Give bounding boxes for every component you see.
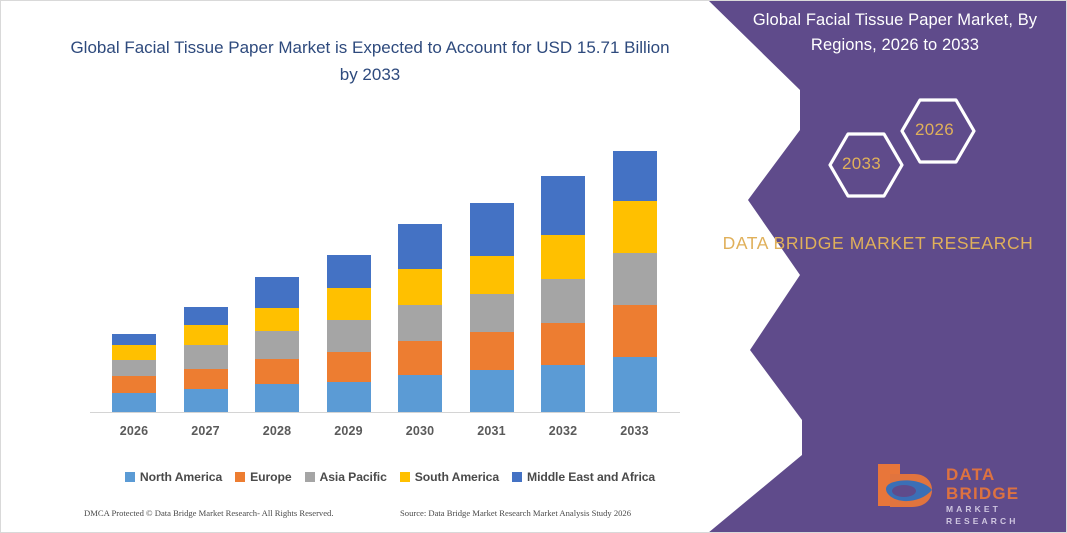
hexagon-label-end-year: 2026 xyxy=(915,120,954,140)
bar-segment xyxy=(541,323,585,365)
bar-segment xyxy=(398,269,442,305)
stacked-bar xyxy=(184,307,228,412)
bar-segment xyxy=(613,201,657,253)
bridge-b-icon xyxy=(870,460,940,512)
bar-segment xyxy=(184,307,228,325)
x-axis-label: 2030 xyxy=(380,424,460,438)
bar-segment xyxy=(255,277,299,308)
bar-segment xyxy=(470,294,514,332)
bar-segment xyxy=(541,365,585,412)
bar-segment xyxy=(112,393,156,412)
legend-swatch-icon xyxy=(305,472,315,482)
x-axis-line xyxy=(90,412,680,413)
bar-segment xyxy=(613,151,657,201)
brand-name: DATA BRIDGE MARKET RESEARCH xyxy=(718,228,1038,258)
bar-segment xyxy=(184,325,228,345)
company-logo: DATA BRIDGE MARKET RESEARCH xyxy=(870,460,1060,515)
legend-swatch-icon xyxy=(400,472,410,482)
copyright-notice: DMCA Protected © Data Bridge Market Rese… xyxy=(84,508,334,518)
bar-segment xyxy=(327,320,371,352)
bar-segment xyxy=(255,308,299,331)
bar-segment xyxy=(327,382,371,412)
logo-subtitle: MARKET RESEARCH xyxy=(946,503,1060,527)
x-axis-label: 2031 xyxy=(452,424,532,438)
bar-segment xyxy=(112,334,156,345)
infographic-canvas: Global Facial Tissue Paper Market, By Re… xyxy=(0,0,1067,533)
legend-label: Middle East and Africa xyxy=(527,470,655,484)
legend-label: South America xyxy=(415,470,499,484)
panel-title: Global Facial Tissue Paper Market, By Re… xyxy=(730,8,1060,58)
legend-label: North America xyxy=(140,470,222,484)
chart-legend: North AmericaEuropeAsia PacificSouth Ame… xyxy=(90,470,690,484)
bar-segment xyxy=(112,360,156,376)
hexagon-shapes xyxy=(810,92,1010,207)
chart-area: Global Facial Tissue Paper Market is Exp… xyxy=(0,0,700,533)
bar-segment xyxy=(255,384,299,412)
stacked-bar xyxy=(470,203,514,412)
bar-segment xyxy=(613,357,657,412)
legend-swatch-icon xyxy=(512,472,522,482)
bar-segment xyxy=(470,332,514,370)
legend-label: Europe xyxy=(250,470,291,484)
stacked-bar xyxy=(398,224,442,412)
x-axis-label: 2033 xyxy=(595,424,675,438)
stacked-bar xyxy=(541,176,585,412)
legend-item-south-america[interactable]: South America xyxy=(400,470,499,484)
legend-item-middle-east-and-africa[interactable]: Middle East and Africa xyxy=(512,470,655,484)
bar-segment xyxy=(398,305,442,341)
hexagon-group: 2026 2033 xyxy=(810,92,1010,207)
bar-segment xyxy=(470,203,514,256)
x-axis-label: 2029 xyxy=(309,424,389,438)
legend-label: Asia Pacific xyxy=(320,470,387,484)
bar-segment xyxy=(470,256,514,294)
x-axis-label: 2026 xyxy=(94,424,174,438)
bar-segment xyxy=(327,255,371,288)
legend-item-asia-pacific[interactable]: Asia Pacific xyxy=(305,470,387,484)
bar-segment xyxy=(112,376,156,393)
chart-title: Global Facial Tissue Paper Market is Exp… xyxy=(70,34,670,88)
stacked-bar xyxy=(255,277,299,412)
legend-item-north-america[interactable]: North America xyxy=(125,470,222,484)
stacked-bar xyxy=(613,151,657,412)
bar-segment xyxy=(255,359,299,384)
source-notice: Source: Data Bridge Market Research Mark… xyxy=(400,508,631,518)
legend-swatch-icon xyxy=(125,472,135,482)
bar-segment xyxy=(470,370,514,412)
bar-segment xyxy=(184,369,228,389)
logo-title: DATA BRIDGE xyxy=(946,465,1060,503)
bar-segment xyxy=(398,224,442,269)
bar-segment xyxy=(398,375,442,412)
bar-segment xyxy=(184,389,228,412)
legend-swatch-icon xyxy=(235,472,245,482)
x-axis-label: 2032 xyxy=(523,424,603,438)
regions-panel-content: Global Facial Tissue Paper Market, By Re… xyxy=(690,0,1067,533)
bar-segment xyxy=(541,279,585,323)
x-axis-label: 2027 xyxy=(166,424,246,438)
bar-segment xyxy=(541,176,585,235)
stacked-bar xyxy=(327,255,371,412)
bar-segment xyxy=(184,345,228,369)
hexagon-label-start-year: 2033 xyxy=(842,154,881,174)
bar-segment xyxy=(541,235,585,279)
x-axis-label: 2028 xyxy=(237,424,317,438)
stacked-bar xyxy=(112,334,156,412)
bar-segment xyxy=(112,345,156,360)
bar-segment xyxy=(327,352,371,382)
bar-segment xyxy=(327,288,371,320)
bar-segment xyxy=(398,341,442,375)
bar-segment xyxy=(613,253,657,305)
bar-segment xyxy=(255,331,299,359)
legend-item-europe[interactable]: Europe xyxy=(235,470,291,484)
bar-segment xyxy=(613,305,657,357)
logo-wordmark: DATA BRIDGE MARKET RESEARCH xyxy=(946,465,1060,527)
